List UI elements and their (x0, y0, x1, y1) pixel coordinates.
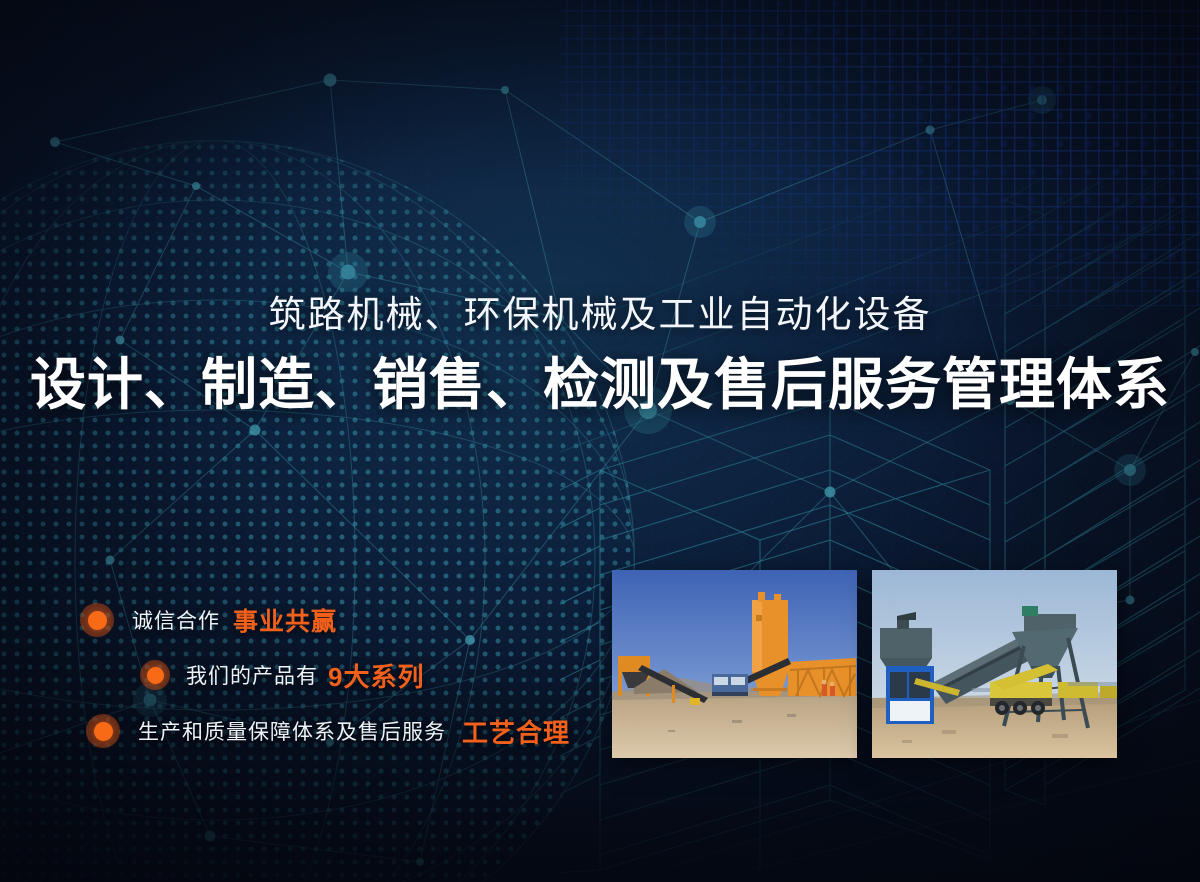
mobile-mixing-plant-photo (872, 570, 1117, 758)
bullet-label: 生产和质量保障体系及售后服务 (138, 716, 446, 746)
feature-bullet-list: 诚信合作 事业共赢 我们的产品有 9大系列 生产和质量保障体系及售后服务 工艺合… (0, 596, 600, 755)
concrete-batching-plant-photo (612, 570, 857, 758)
bullet-label: 我们的产品有 (186, 660, 318, 690)
list-item: 生产和质量保障体系及售后服务 工艺合理 (0, 707, 600, 755)
bullet-accent: 9大系列 (328, 657, 424, 694)
list-item: 我们的产品有 9大系列 (0, 651, 600, 699)
bullet-accent: 工艺合理 (462, 713, 570, 750)
bullet-label: 诚信合作 (132, 605, 220, 635)
bullet-accent: 事业共赢 (233, 602, 337, 638)
list-item: 诚信合作 事业共赢 (0, 596, 600, 644)
banner-headline: 设计、制造、销售、检测及售后服务管理体系 (0, 357, 1200, 413)
heading-group: 筑路机械、环保机械及工业自动化设备 设计、制造、销售、检测及售后服务管理体系 (0, 296, 1200, 413)
hero-banner: 筑路机械、环保机械及工业自动化设备 设计、制造、销售、检测及售后服务管理体系 诚… (0, 0, 1200, 882)
dot-bullet-icon (140, 660, 170, 690)
banner-subtitle: 筑路机械、环保机械及工业自动化设备 (0, 296, 1200, 333)
dot-bullet-icon (86, 714, 120, 748)
dot-bullet-icon (80, 603, 114, 637)
